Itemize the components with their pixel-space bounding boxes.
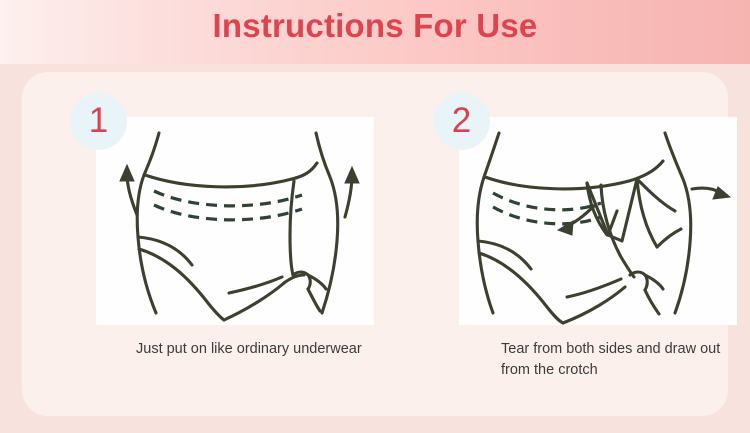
step-2-badge: 2 (433, 93, 490, 150)
arrow-right-tear-icon (692, 187, 730, 199)
waistband-dashes (493, 193, 601, 224)
underwear-pull-up-illustration (96, 117, 374, 325)
step-1-badge: 1 (70, 93, 127, 150)
step-2-caption: Tear from both sides and draw out from t… (501, 339, 750, 380)
instructions-page: Instructions For Use (0, 0, 750, 433)
steps-container: 1 Just put on like ordinary underwear (22, 72, 728, 416)
underwear-tear-sides-illustration (459, 117, 737, 325)
step-2: 2 Tear from both sides and draw out from… (411, 72, 728, 416)
step-1-figure-box (96, 117, 374, 325)
step-2-number: 2 (452, 103, 471, 138)
step-1-number: 1 (89, 103, 108, 138)
page-title: Instructions For Use (0, 7, 750, 45)
step-2-figure-box (459, 117, 737, 325)
waistband-dashes (154, 191, 302, 220)
step-1-caption: Just put on like ordinary underwear (136, 339, 386, 360)
arrow-up-right-icon (345, 167, 359, 217)
arrow-up-left-icon (120, 165, 137, 215)
step-1: 1 Just put on like ordinary underwear (48, 72, 365, 416)
